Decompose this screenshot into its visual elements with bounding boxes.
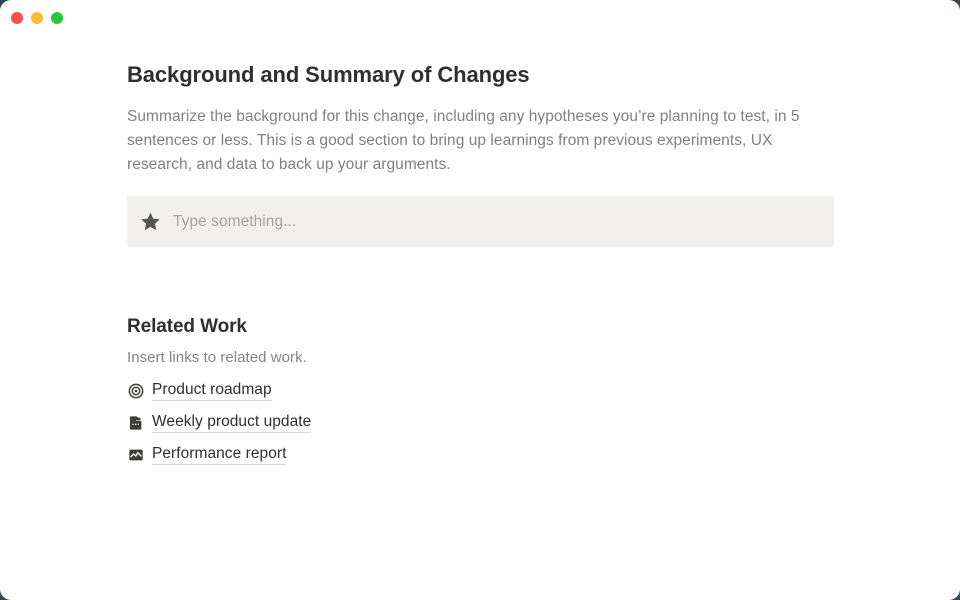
list-item[interactable]: Performance report <box>127 444 837 466</box>
list-item-label[interactable]: Weekly product update <box>152 413 311 433</box>
related-work-title: Related Work <box>127 316 837 338</box>
list-item[interactable]: Weekly product update <box>127 412 837 434</box>
maximize-window-button[interactable] <box>51 12 63 24</box>
page-title: Background and Summary of Changes <box>127 62 837 88</box>
window-corner-top-right <box>948 0 960 12</box>
summary-input[interactable]: Type something... <box>127 196 834 247</box>
list-item-label[interactable]: Performance report <box>152 445 286 465</box>
close-window-button[interactable] <box>11 12 23 24</box>
window-corner-top-left <box>0 0 12 12</box>
related-work-subtitle: Insert links to related work. <box>127 349 837 366</box>
window-corner-bottom-left <box>0 588 12 600</box>
window-controls <box>11 12 63 24</box>
related-work-list: Product roadmap Weekly product update <box>127 380 837 466</box>
document-icon <box>127 415 144 432</box>
summary-paragraph: Summarize the background for this change… <box>127 105 827 177</box>
star-icon <box>127 211 173 232</box>
summary-input-placeholder: Type something... <box>173 213 296 231</box>
app-window: Background and Summary of Changes Summar… <box>0 0 960 600</box>
line-chart-icon <box>127 447 144 464</box>
list-item[interactable]: Product roadmap <box>127 380 837 402</box>
list-item-label[interactable]: Product roadmap <box>152 381 272 401</box>
document-body: Background and Summary of Changes Summar… <box>127 62 837 466</box>
minimize-window-button[interactable] <box>31 12 43 24</box>
target-icon <box>127 383 144 400</box>
window-corner-bottom-right <box>948 588 960 600</box>
